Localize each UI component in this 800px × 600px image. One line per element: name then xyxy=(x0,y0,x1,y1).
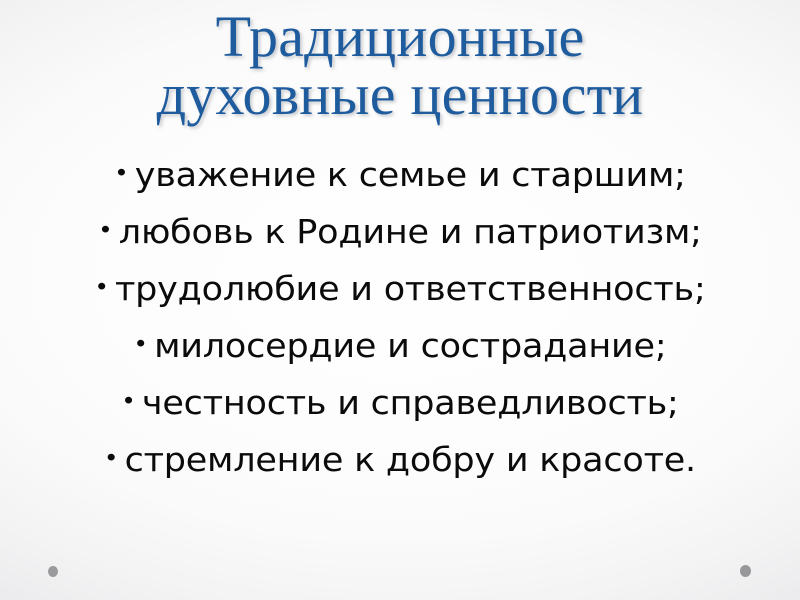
slide-title-line-2: духовные ценности xyxy=(0,66,800,124)
decorative-dot-left xyxy=(48,566,58,577)
bullet-list-item-label: честность и справедливость; xyxy=(142,383,679,422)
bullet-point-icon: • xyxy=(104,446,125,472)
bullet-point-icon: • xyxy=(134,332,155,358)
bullet-list-item-label: трудолюбие и ответственность; xyxy=(115,269,706,308)
bullet-list-item: •милосердие и сострадание; xyxy=(0,317,800,374)
bullet-list: •уважение к семье и старшим; •любовь к Р… xyxy=(0,146,800,488)
bullet-point-icon: • xyxy=(121,389,142,415)
bullet-list-item-label: стремление к добру и красоте. xyxy=(125,440,696,479)
slide-title: Традиционные духовные ценности xyxy=(0,8,800,124)
bullet-list-item: •уважение к семье и старшим; xyxy=(0,146,800,203)
bullet-list-item: •стремление к добру и красоте. xyxy=(0,431,800,488)
bullet-point-icon: • xyxy=(114,161,135,187)
bullet-list-item-label: уважение к семье и старшим; xyxy=(135,155,686,194)
bullet-list-item: •честность и справедливость; xyxy=(0,374,800,431)
bullet-list-item: •трудолюбие и ответственность; xyxy=(0,260,800,317)
bullet-list-item-label: любовь к Родине и патриотизм; xyxy=(119,212,702,251)
decorative-dot-right xyxy=(740,565,751,577)
bullet-list-item-label: милосердие и сострадание; xyxy=(154,326,666,365)
bullet-list-item: •любовь к Родине и патриотизм; xyxy=(0,203,800,260)
slide-title-line-1: Традиционные xyxy=(0,8,800,66)
bullet-point-icon: • xyxy=(98,218,119,244)
bullet-point-icon: • xyxy=(94,275,115,301)
presentation-slide: Традиционные духовные ценности •уважение… xyxy=(0,0,800,600)
